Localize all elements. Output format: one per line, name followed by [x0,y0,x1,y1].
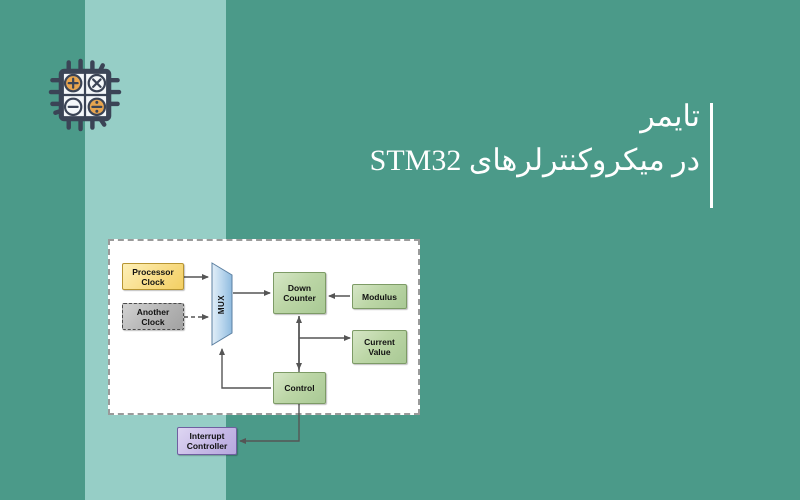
down-counter-line-2: Counter [283,293,316,303]
slide-canvas: تایمر در میکروکنترلرهای STM32 [0,0,800,500]
another-clock-line-2: Clock [137,317,170,327]
block-current-value: Current Value [352,330,407,364]
title-line-1: تایمر [300,95,700,139]
current-value-line-1: Current [364,337,395,347]
down-counter-line-1: Down [283,283,316,293]
block-interrupt-controller: Interrupt Controller [177,427,237,455]
processor-clock-line-2: Clock [132,277,174,287]
microchip-math-icon [48,58,122,132]
title-vertical-rule [710,103,713,208]
block-another-clock: Another Clock [122,303,184,330]
title-line-2: در میکروکنترلرهای STM32 [300,139,700,183]
interrupt-controller-line-2: Controller [187,441,228,451]
modulus-label: Modulus [362,292,397,302]
interrupt-controller-line-1: Interrupt [187,431,228,441]
processor-clock-line-1: Processor [132,267,174,277]
block-control: Control [273,372,326,404]
current-value-line-2: Value [364,347,395,357]
mux-label-text: MUX [218,294,227,313]
mux-label: MUX [211,262,233,346]
page-title: تایمر در میکروکنترلرهای STM32 [300,95,700,183]
block-processor-clock: Processor Clock [122,263,184,290]
block-down-counter: Down Counter [273,272,326,314]
control-label: Control [284,383,314,393]
another-clock-line-1: Another [137,307,170,317]
block-modulus: Modulus [352,284,407,309]
